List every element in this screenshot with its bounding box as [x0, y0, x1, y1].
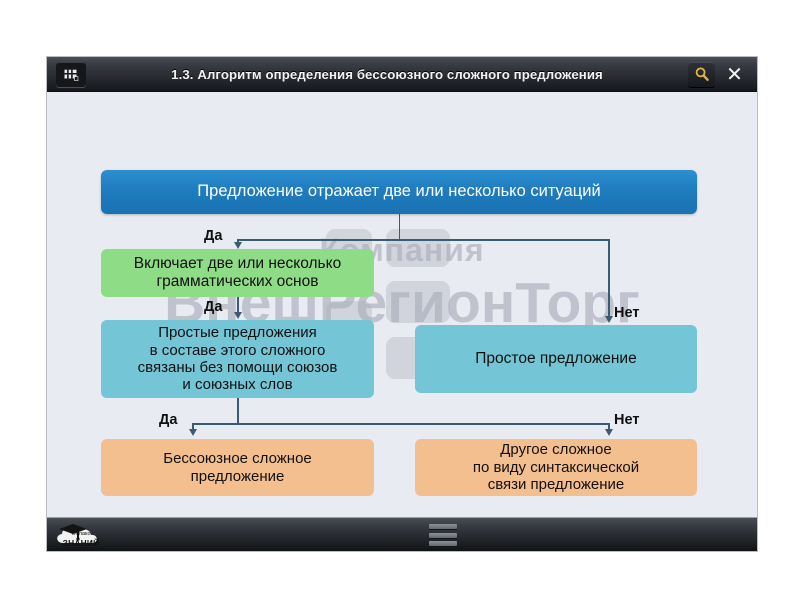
page-title: 1.3. Алгоритм определения бессоюзного сл…: [86, 67, 688, 82]
flow-node-grammar-bases: Включает две или несколько грамматически…: [101, 249, 374, 297]
branch-label-yes-3: Да: [159, 412, 177, 428]
search-icon[interactable]: [688, 62, 715, 87]
connector-split-2: [192, 423, 609, 425]
close-icon[interactable]: ✕: [721, 62, 748, 87]
connector-no1-down: [608, 239, 610, 319]
branch-label-yes-1: Да: [204, 228, 222, 244]
logo-line-2: ЗНАНИЙ: [53, 539, 109, 547]
connector-split-1: [237, 239, 609, 241]
flow-node-asyndetic-complex: Бессоюзное сложное предложение: [101, 439, 374, 496]
presentation-window: 1.3. Алгоритм определения бессоюзного сл…: [47, 57, 757, 551]
flow-node-root: Предложение отражает две или несколько с…: [101, 170, 697, 214]
branch-label-yes-2: Да: [204, 299, 222, 315]
logo-line-1: Облако: [53, 532, 109, 538]
hamburger-bar: [429, 524, 457, 529]
arrowhead-yes1: [234, 242, 242, 249]
arrowhead-no2: [605, 429, 613, 436]
hamburger-menu-icon[interactable]: [429, 524, 457, 546]
connector-root-down: [399, 214, 401, 240]
titlebar-actions: ✕: [688, 62, 748, 87]
app-root: 1.3. Алгоритм определения бессоюзного сл…: [0, 0, 800, 600]
connector-blue-down: [237, 398, 239, 424]
hamburger-bar: [429, 533, 457, 538]
hamburger-bar: [429, 541, 457, 546]
arrowhead-yes2: [234, 312, 242, 319]
grid-keyboard-icon[interactable]: [56, 62, 86, 87]
flow-node-other-complex: Другое сложное по виду синтаксической св…: [415, 439, 697, 496]
flow-node-simple-sentence: Простое предложение: [415, 325, 697, 393]
close-glyph: ✕: [726, 64, 743, 84]
title-bar: 1.3. Алгоритм определения бессоюзного сл…: [47, 57, 757, 92]
branch-label-no-1: Нет: [614, 305, 639, 321]
branch-label-no-2: Нет: [614, 412, 639, 428]
arrowhead-no1: [605, 316, 613, 323]
flow-node-no-conjunctions: Простые предложения в составе этого слож…: [101, 320, 374, 398]
arrowhead-yes3: [189, 429, 197, 436]
oblako-znaniy-logo[interactable]: Облако ЗНАНИЙ: [53, 521, 109, 549]
slide-canvas: Компания ВнешРегионТорг Да Нет Да Да: [47, 92, 757, 517]
bottom-bar: Облако ЗНАНИЙ: [47, 517, 757, 551]
